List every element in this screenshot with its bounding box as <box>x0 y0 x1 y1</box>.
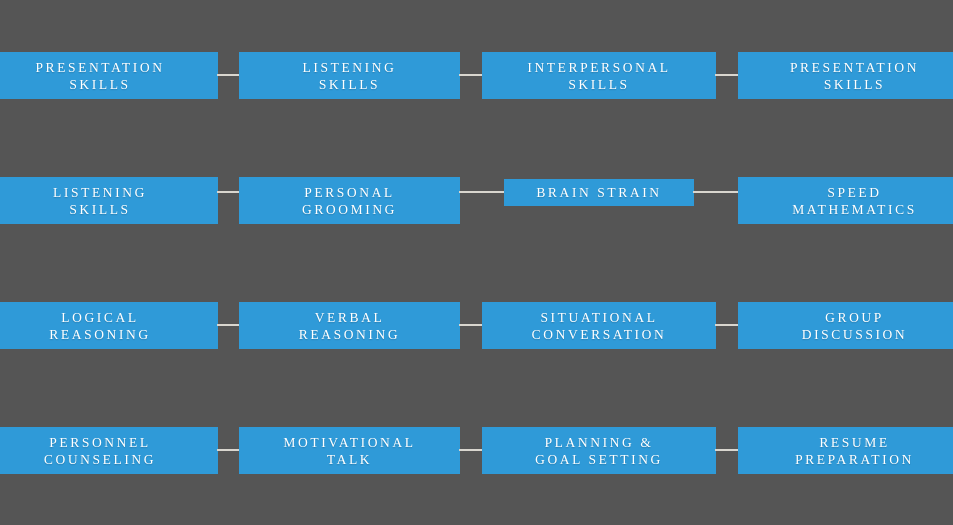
topic-node[interactable]: PLANNING & GOAL SETTING <box>482 427 716 474</box>
topic-node[interactable]: LISTENING SKILLS <box>239 52 460 99</box>
topic-row-2: LISTENING SKILLS PERSONAL GROOMING BRAIN… <box>0 125 953 250</box>
connector-line <box>693 191 739 193</box>
topic-row-1: PRESENTATION SKILLS LISTENING SKILLS INT… <box>0 0 953 125</box>
topic-node[interactable]: LISTENING SKILLS <box>0 177 218 224</box>
topic-node[interactable]: MOTIVATIONAL TALK <box>239 427 460 474</box>
topic-node[interactable]: GROUP DISCUSSION <box>738 302 953 349</box>
topic-node[interactable]: SITUATIONAL CONVERSATION <box>482 302 716 349</box>
topic-node[interactable]: PRESENTATION SKILLS <box>0 52 218 99</box>
topic-row-3: LOGICAL REASONING VERBAL REASONING SITUA… <box>0 250 953 375</box>
connector-line <box>459 191 505 193</box>
connector-line <box>217 74 240 76</box>
topic-node[interactable]: LOGICAL REASONING <box>0 302 218 349</box>
topic-node[interactable]: VERBAL REASONING <box>239 302 460 349</box>
connector-line <box>715 74 739 76</box>
topic-node[interactable]: BRAIN STRAIN <box>504 179 694 206</box>
connector-line <box>459 324 483 326</box>
topic-node[interactable]: RESUME PREPARATION <box>738 427 953 474</box>
connector-line <box>217 191 240 193</box>
topic-node[interactable]: PRESENTATION SKILLS <box>738 52 953 99</box>
connector-line <box>459 74 483 76</box>
connector-line <box>715 324 739 326</box>
connector-line <box>217 449 240 451</box>
topic-node[interactable]: SPEED MATHEMATICS <box>738 177 953 224</box>
topic-node[interactable]: INTERPERSONAL SKILLS <box>482 52 716 99</box>
topic-row-4: PERSONNEL COUNSELING MOTIVATIONAL TALK P… <box>0 375 953 500</box>
topic-node[interactable]: PERSONAL GROOMING <box>239 177 460 224</box>
connector-line <box>459 449 483 451</box>
connector-line <box>217 324 240 326</box>
topic-node[interactable]: PERSONNEL COUNSELING <box>0 427 218 474</box>
connector-line <box>715 449 739 451</box>
training-topics-grid: PRESENTATION SKILLS LISTENING SKILLS INT… <box>0 0 953 525</box>
